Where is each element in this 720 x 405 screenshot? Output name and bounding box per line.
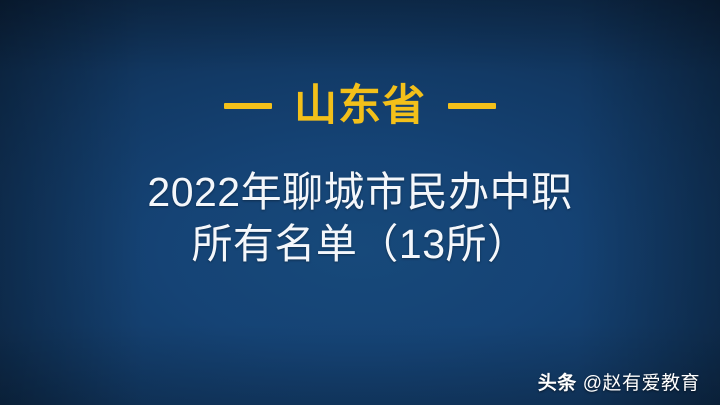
watermark-brand-label: 头条 (538, 374, 577, 393)
subtitle-block: 2022年聊城市民办中职 所有名单（13所） (0, 166, 720, 271)
subtitle-line-1: 2022年聊城市民办中职 (0, 166, 720, 218)
slide-canvas: 山东省 2022年聊城市民办中职 所有名单（13所） 头条 @赵有爱教育 (0, 0, 720, 405)
right-dash-icon (448, 103, 496, 109)
page-title: 山东省 (294, 85, 426, 128)
watermark-handle-label: @赵有爱教育 (583, 374, 700, 393)
subtitle-line-2: 所有名单（13所） (0, 218, 720, 270)
watermark: 头条 @赵有爱教育 (538, 374, 700, 393)
left-dash-icon (224, 103, 272, 109)
heading-row: 山东省 (0, 78, 720, 134)
